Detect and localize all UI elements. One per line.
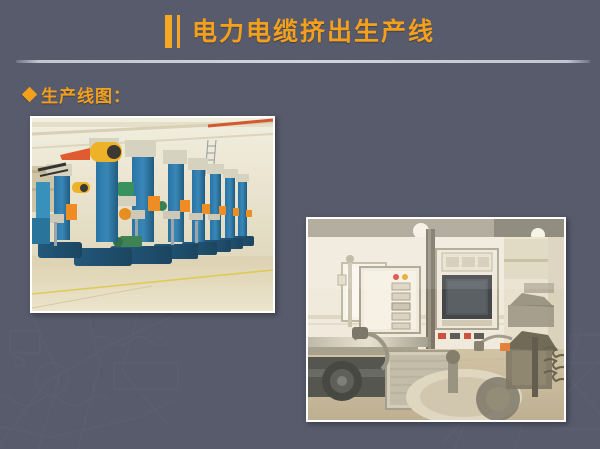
control-panel-photo [306, 217, 566, 422]
page-title: 电力电缆挤出生产线 [192, 19, 435, 44]
presentation-slide: S 电力电缆挤出生产线 生产线图： [0, 0, 600, 449]
section-heading: 生产线图： [24, 82, 131, 107]
orange-diamond-icon [22, 87, 38, 103]
background-watermark-left: S [0, 305, 180, 449]
slide-header: 电力电缆挤出生产线 [0, 13, 600, 49]
svg-text:S: S [12, 348, 27, 373]
section-heading-label: 生产线图： [41, 82, 131, 107]
production-line-photo [30, 116, 275, 313]
double-vertical-bar-icon [165, 15, 180, 48]
header-divider [16, 60, 590, 63]
